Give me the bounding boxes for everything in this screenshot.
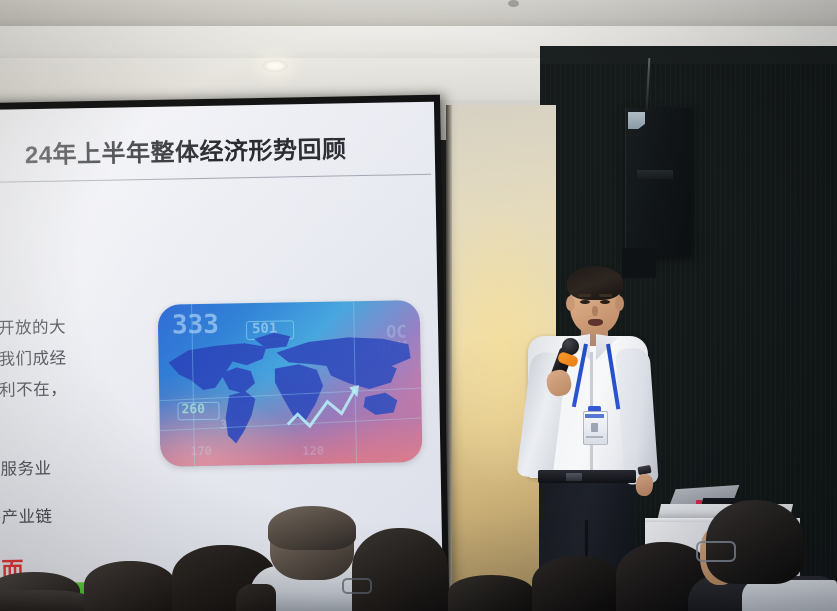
presenter-ear-right	[615, 296, 624, 311]
presenter-belt	[538, 470, 636, 483]
presenter-badge-photo	[591, 423, 598, 432]
presenter-mouth	[588, 319, 603, 326]
audience-member-glasses-right-shirt	[742, 580, 837, 611]
loudspeaker-icon	[625, 108, 691, 256]
audience-glasses-right-icon	[696, 541, 736, 562]
presenter-ear-left	[566, 296, 575, 311]
slide-title-divider	[0, 174, 431, 183]
presenter-eyebrow-left	[578, 294, 591, 297]
presenter-eye-left	[580, 300, 590, 304]
audience-head-5	[448, 575, 534, 611]
slide-body-line-7: 根源是各产业链	[0, 498, 234, 534]
audience-head-6	[532, 556, 622, 611]
audience-head-glasses-left	[352, 528, 448, 611]
world-map-graphic: 333 501 260 360 170 120 OC OCX	[158, 300, 423, 467]
ceiling-vent-icon	[508, 0, 519, 7]
ceiling-downlight-left-icon	[262, 60, 288, 72]
audience-head-1-shoulders	[0, 590, 90, 611]
audience-glasses-left-icon	[342, 578, 372, 594]
presenter-nose	[592, 306, 598, 316]
presenter-eyebrow-right	[599, 294, 612, 297]
audience-head-3-shoulder	[236, 584, 276, 611]
audience-head-2	[84, 561, 176, 611]
speaker-base	[622, 248, 656, 278]
speaker-grill	[637, 170, 673, 179]
conference-photo: 24年上半年整体经济形势回顾 、 的是经济开放的大 蛋糕，怕我们成经 资源等红利…	[0, 0, 837, 611]
audience-member-lanyard-hair	[268, 506, 356, 550]
presenter-badge-header	[585, 414, 604, 418]
dark-wall-top-edge	[540, 46, 837, 64]
presenter-eye-right	[600, 300, 610, 304]
slide-title: 24年上半年整体经济形势回顾	[24, 128, 425, 170]
presenter-hair	[567, 266, 623, 300]
world-map-icon	[158, 300, 423, 467]
presenter-belt-buckle	[566, 473, 582, 481]
presenter-badge-text	[586, 436, 603, 438]
